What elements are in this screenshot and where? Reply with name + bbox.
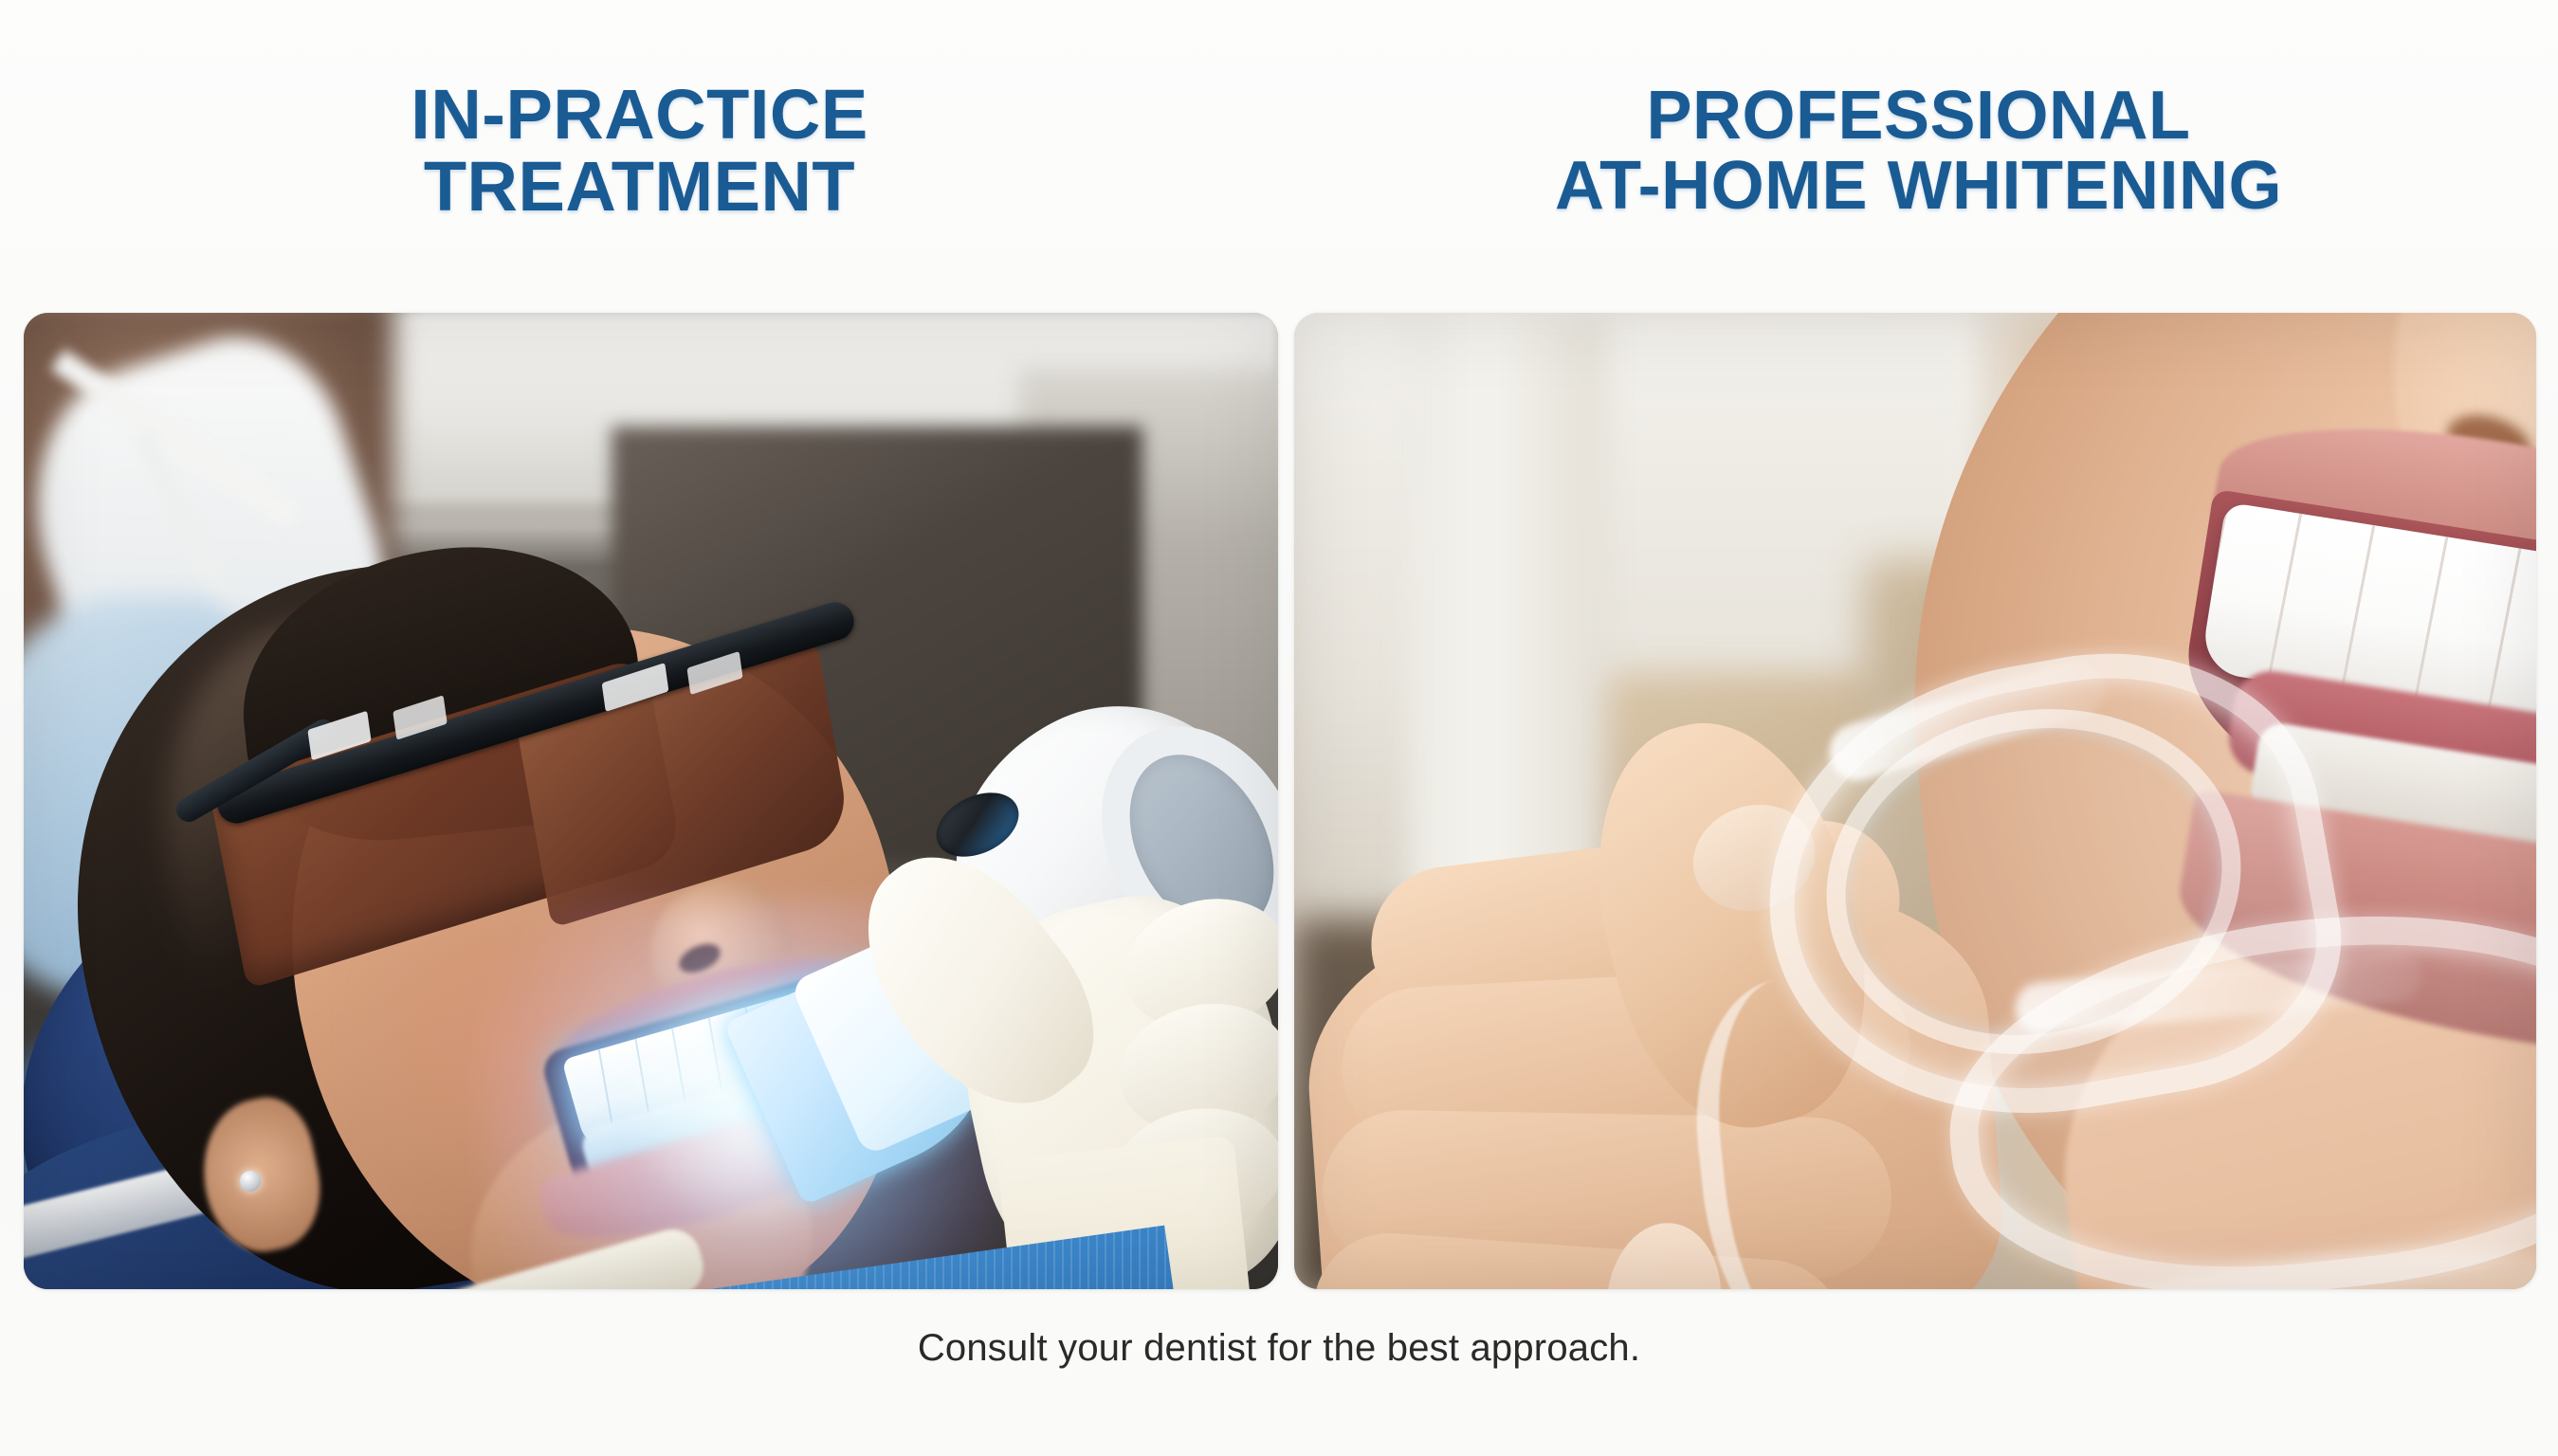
page-root: IN-PRACTICE TREATMENT PROFESSIONAL AT-HO… bbox=[0, 0, 2558, 1456]
heading-at-home: PROFESSIONAL AT-HOME WHITENING bbox=[1279, 0, 2558, 284]
footer-caption: Consult your dentist for the best approa… bbox=[0, 1327, 2558, 1370]
photo-panels bbox=[0, 313, 2558, 1289]
photo-at-home-whitening bbox=[1294, 313, 2536, 1289]
heading-in-practice: IN-PRACTICE TREATMENT bbox=[0, 0, 1279, 284]
photo-in-practice-treatment bbox=[24, 313, 1278, 1289]
heading-line-1: PROFESSIONAL bbox=[1646, 81, 2190, 151]
heading-line-2: AT-HOME WHITENING bbox=[1555, 151, 2282, 221]
heading-line-2: TREATMENT bbox=[424, 151, 855, 223]
headings-row: IN-PRACTICE TREATMENT PROFESSIONAL AT-HO… bbox=[0, 0, 2558, 284]
earring bbox=[240, 1171, 261, 1192]
heading-line-1: IN-PRACTICE bbox=[411, 79, 868, 151]
